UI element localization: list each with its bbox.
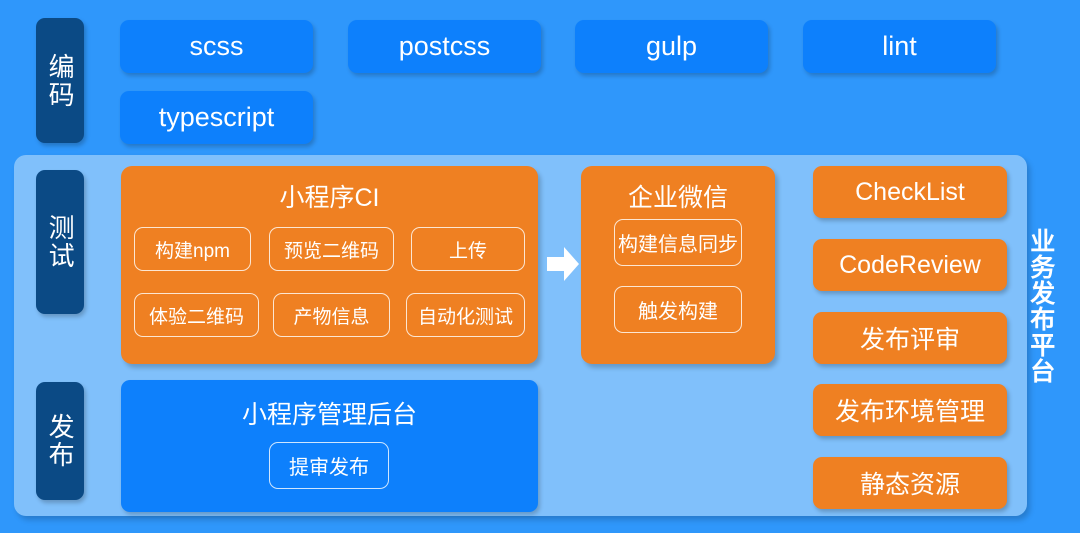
platform-item-static-assets[interactable]: 静态资源: [813, 457, 1007, 509]
tool-card-lint[interactable]: lint: [803, 20, 996, 73]
tool-card-postcss-label: postcss: [399, 31, 491, 62]
stage-tab-release[interactable]: 发布: [36, 382, 84, 500]
ci-item-experience-qrcode[interactable]: 体验二维码: [134, 293, 259, 337]
group-mini-program-ci[interactable]: 小程序CI 构建npm 预览二维码 上传 体验二维码 产物信息 自动化测试: [121, 166, 538, 364]
ci-item-build-npm[interactable]: 构建npm: [134, 227, 251, 271]
ci-item-experience-qrcode-label: 体验二维码: [149, 302, 244, 329]
ci-item-artifact-info-label: 产物信息: [293, 302, 369, 329]
tool-card-typescript-label: typescript: [159, 102, 275, 133]
ci-item-upload-label: 上传: [449, 236, 487, 263]
wecom-item-trigger-build-label: 触发构建: [638, 295, 718, 324]
ci-item-upload[interactable]: 上传: [411, 227, 525, 271]
stage-tab-testing[interactable]: 测试: [36, 170, 84, 314]
platform-item-release-env-management[interactable]: 发布环境管理: [813, 384, 1007, 436]
group-mini-program-admin-title: 小程序管理后台: [121, 395, 538, 431]
tool-card-gulp-label: gulp: [646, 31, 697, 62]
group-mini-program-ci-title: 小程序CI: [121, 178, 538, 214]
stage-tab-release-label: 发布: [45, 413, 75, 469]
platform-item-release-review[interactable]: 发布评审: [813, 312, 1007, 364]
platform-vertical-label-text: 业务发布平台: [1025, 228, 1055, 384]
platform-item-codereview-label: CodeReview: [839, 251, 981, 280]
ci-item-preview-qrcode[interactable]: 预览二维码: [269, 227, 394, 271]
stage-tab-testing-label: 测试: [45, 214, 75, 270]
tool-card-gulp[interactable]: gulp: [575, 20, 768, 73]
ci-item-automated-test-label: 自动化测试: [418, 302, 513, 329]
platform-item-checklist[interactable]: CheckList: [813, 166, 1007, 218]
ci-item-preview-qrcode-label: 预览二维码: [284, 236, 379, 263]
platform-item-codereview[interactable]: CodeReview: [813, 239, 1007, 291]
group-wecom-title: 企业微信: [581, 178, 775, 214]
group-mini-program-admin[interactable]: 小程序管理后台 提审发布: [121, 380, 538, 512]
ci-item-build-npm-label: 构建npm: [155, 236, 230, 263]
group-wecom[interactable]: 企业微信 构建信息同步 触发构建: [581, 166, 775, 364]
platform-item-release-env-management-label: 发布环境管理: [835, 392, 985, 428]
tool-card-typescript[interactable]: typescript: [120, 91, 313, 144]
platform-vertical-label: 业务发布平台: [1020, 228, 1060, 392]
platform-item-static-assets-label: 静态资源: [860, 465, 960, 501]
wecom-item-build-info-sync-label: 构建信息同步: [618, 228, 738, 257]
wecom-item-trigger-build[interactable]: 触发构建: [614, 286, 742, 333]
ci-item-artifact-info[interactable]: 产物信息: [273, 293, 390, 337]
admin-item-submit-review-release-label: 提审发布: [289, 451, 369, 480]
arrow-right-icon: [547, 246, 579, 282]
tool-card-lint-label: lint: [882, 31, 917, 62]
tool-card-postcss[interactable]: postcss: [348, 20, 541, 73]
admin-item-submit-review-release[interactable]: 提审发布: [269, 442, 389, 489]
stage-tab-coding-label: 编码: [45, 53, 75, 109]
diagram-canvas: 编码 scss postcss gulp lint typescript 测试 …: [0, 0, 1080, 533]
wecom-item-build-info-sync[interactable]: 构建信息同步: [614, 219, 742, 266]
platform-item-checklist-label: CheckList: [855, 178, 965, 207]
stage-tab-coding[interactable]: 编码: [36, 18, 84, 143]
platform-item-release-review-label: 发布评审: [860, 320, 960, 356]
tool-card-scss[interactable]: scss: [120, 20, 313, 73]
ci-item-automated-test[interactable]: 自动化测试: [406, 293, 525, 337]
tool-card-scss-label: scss: [190, 31, 244, 62]
